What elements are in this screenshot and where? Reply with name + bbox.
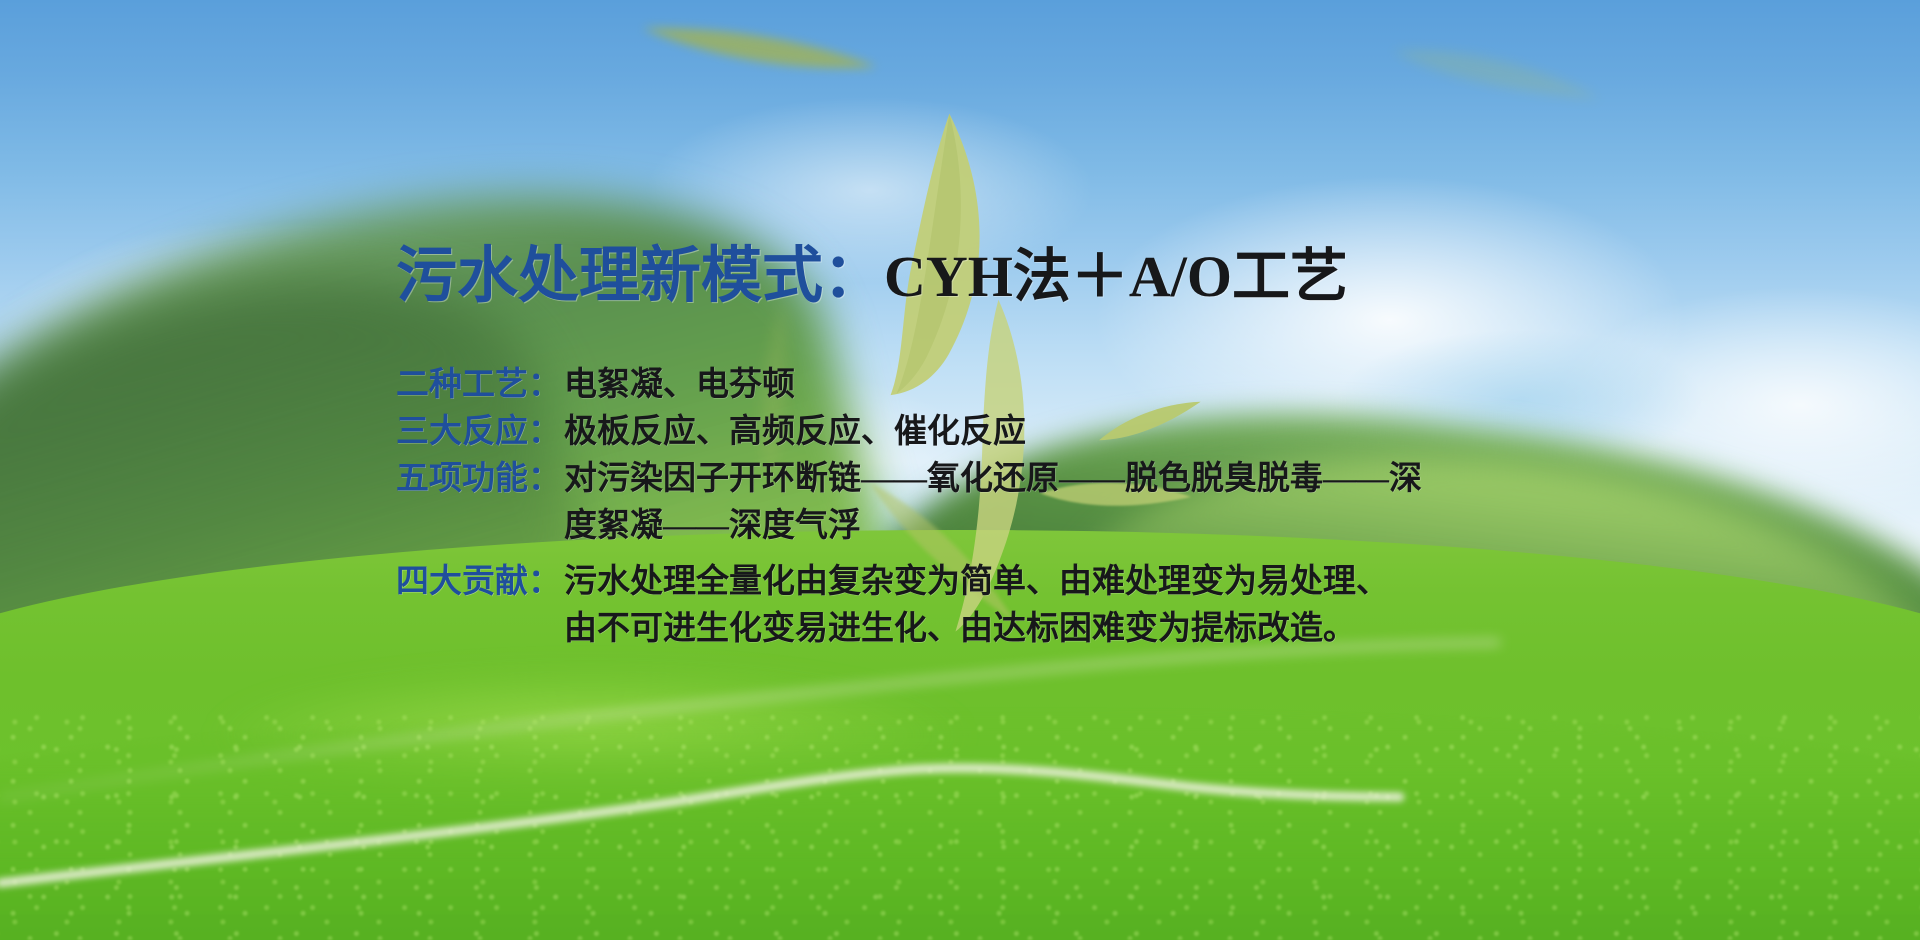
text-content-layer: 污水处理新模式：CYH法＋A/O工艺 二种工艺： 电絮凝、电芬顿 三大反应： 极… <box>0 0 1920 940</box>
bullet-rows: 二种工艺： 电絮凝、电芬顿 三大反应： 极板反应、高频反应、催化反应 五项功能：… <box>396 362 1516 653</box>
bullet-value-line: 污水处理全量化由复杂变为简单、由难处理变为易处理、 <box>564 564 1389 600</box>
bullet-row: 二种工艺： 电絮凝、电芬顿 <box>396 362 1516 409</box>
bullet-label: 四大贡献： <box>396 559 564 606</box>
bullet-value-line: 电絮凝、电芬顿 <box>564 367 795 403</box>
bullet-value: 对污染因子开环断链——氧化还原——脱色脱臭脱毒——深 度絮凝——深度气浮 <box>564 456 1516 550</box>
slide-title-dark-part: CYH法＋A/O工艺 <box>884 244 1348 309</box>
bullet-value: 污水处理全量化由复杂变为简单、由难处理变为易处理、 由不可进生化变易进生化、由达… <box>564 559 1516 653</box>
bullet-value-line: 对污染因子开环断链——氧化还原——脱色脱臭脱毒——深 <box>564 461 1422 497</box>
bullet-label: 三大反应： <box>396 409 564 456</box>
slide-canvas: 污水处理新模式：CYH法＋A/O工艺 二种工艺： 电絮凝、电芬顿 三大反应： 极… <box>0 0 1920 940</box>
bullet-label: 五项功能： <box>396 456 564 503</box>
bullet-value-continuation: 度絮凝——深度气浮 <box>564 503 1516 550</box>
bullet-label: 二种工艺： <box>396 362 564 409</box>
bullet-row: 四大贡献： 污水处理全量化由复杂变为简单、由难处理变为易处理、 由不可进生化变易… <box>396 559 1516 653</box>
bullet-row: 三大反应： 极板反应、高频反应、催化反应 <box>396 409 1516 456</box>
bullet-row: 五项功能： 对污染因子开环断链——氧化还原——脱色脱臭脱毒——深 度絮凝——深度… <box>396 456 1516 550</box>
slide-title: 污水处理新模式：CYH法＋A/O工艺 <box>396 244 1348 310</box>
slide-title-blue-part: 污水处理新模式： <box>396 243 884 310</box>
bullet-value-continuation: 由不可进生化变易进生化、由达标困难变为提标改造。 <box>564 606 1516 653</box>
bullet-value-line: 极板反应、高频反应、催化反应 <box>564 414 1026 450</box>
bullet-value: 电絮凝、电芬顿 <box>564 362 1516 409</box>
bullet-value: 极板反应、高频反应、催化反应 <box>564 409 1516 456</box>
